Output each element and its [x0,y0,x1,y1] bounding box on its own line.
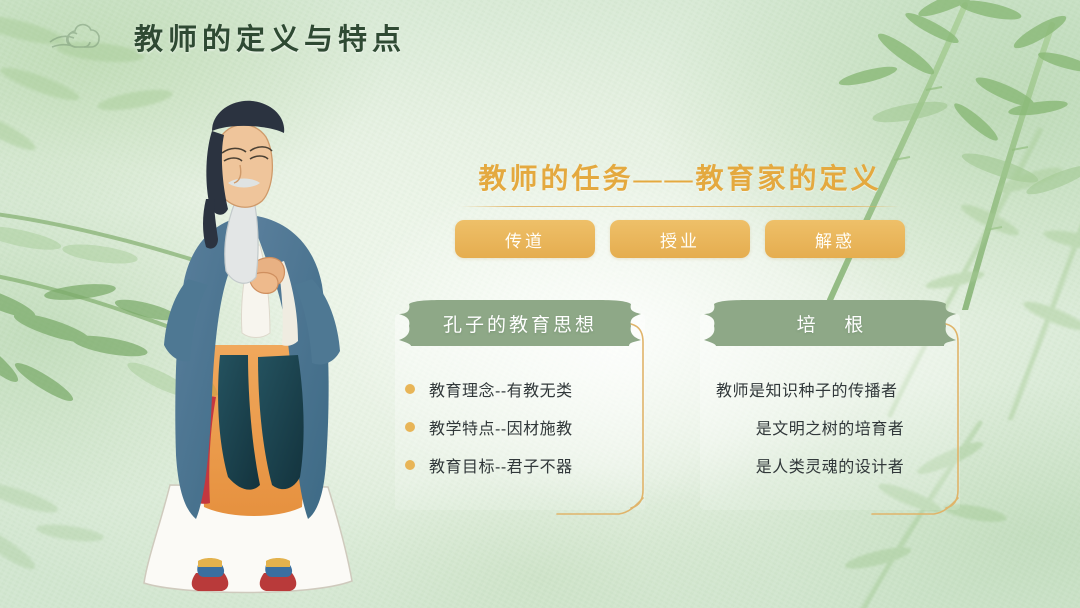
quote-line: 是人类灵魂的设计者 [756,453,905,477]
card-confucius-thought: 孔子的教育思想 教育理念--有教无类 教学特点--因材施教 教育目标--君子不器 [395,300,645,510]
hero-block: 教师的任务——教育家的定义 传道 授业 解惑 [455,157,905,258]
slide-title-group: 教师的定义与特点 [48,14,406,60]
pill-row: 传道 授业 解惑 [455,220,905,258]
bullet-dot-icon [405,422,415,432]
pill-shouye[interactable]: 授业 [610,220,750,258]
bullet-label: 教育目标--君子不器 [429,453,573,477]
pill-jiehuo[interactable]: 解惑 [765,220,905,258]
quote-lines: 教师是知识种子的传播者 是文明之树的培育者 是人类灵魂的设计者 [700,370,960,484]
list-item: 教师是知识种子的传播者 [700,370,960,408]
bullet-dot-icon [405,460,415,470]
pill-chuandao[interactable]: 传道 [455,220,595,258]
list-item: 教学特点--因材施教 [405,408,573,446]
bullet-label: 教学特点--因材施教 [429,415,573,439]
list-item: 教育目标--君子不器 [405,446,573,484]
card-header: 培 根 [700,300,960,346]
bullet-label: 教育理念--有教无类 [429,377,573,401]
card-header-label: 培 根 [700,300,960,346]
quote-line: 是文明之树的培育者 [756,415,905,439]
list-item: 是文明之树的培育者 [700,408,960,446]
page-title: 教师的定义与特点 [134,16,406,58]
gold-bracket-foot [870,496,960,518]
bullet-list: 教育理念--有教无类 教学特点--因材施教 教育目标--君子不器 [405,370,573,484]
gold-bracket-foot [555,496,645,518]
slide-canvas: 教师的定义与特点 [0,0,1080,608]
confucius-figure [100,95,400,605]
card-header: 孔子的教育思想 [395,300,645,346]
list-item: 教育理念--有教无类 [405,370,573,408]
cloud-icon [48,14,120,60]
card-bacon-quote: 培 根 教师是知识种子的传播者 是文明之树的培育者 是人类灵魂的设计者 [700,300,960,510]
bullet-dot-icon [405,384,415,394]
hero-heading: 教师的任务——教育家的定义 [455,157,905,197]
quote-line: 教师是知识种子的传播者 [716,377,898,401]
hero-divider [460,206,900,207]
card-header-label: 孔子的教育思想 [395,300,645,346]
gold-bracket-decoration [629,322,655,510]
list-item: 是人类灵魂的设计者 [700,446,960,484]
